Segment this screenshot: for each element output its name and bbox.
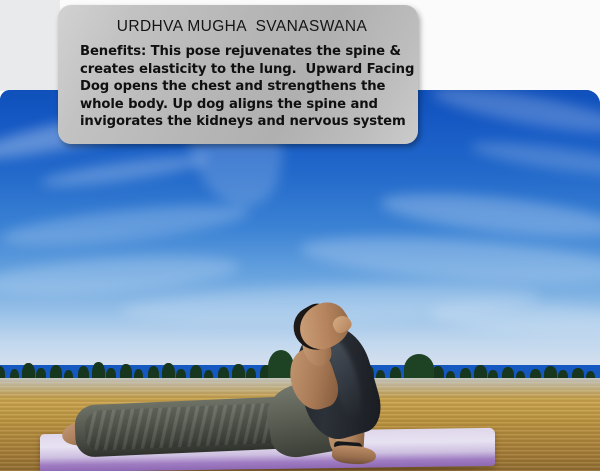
pose-benefits-line: invigorates the kidneys and nervous syst… [80,113,404,131]
screenshot-root: URDHVA MUGHA SVANASWANA Benefits: This p… [0,0,600,471]
yoga-practitioner [0,90,600,471]
pose-benefits-text: Benefits: This pose rejuvenates the spin… [80,43,404,131]
caption-box: URDHVA MUGHA SVANASWANA Benefits: This p… [58,5,418,144]
pose-benefits-line: creates elasticity to the lung. Upward F… [80,61,404,79]
hand [331,444,376,465]
yoga-photo [0,90,600,471]
pose-title: URDHVA MUGHA SVANASWANA [80,18,404,36]
pose-benefits-line: Benefits: This pose rejuvenates the spin… [80,43,404,61]
pose-benefits-line: whole body. Up dog aligns the spine and [80,96,404,114]
top-band-left-strip [0,0,60,91]
pose-benefits-line: Dog opens the chest and strengthens the [80,78,404,96]
